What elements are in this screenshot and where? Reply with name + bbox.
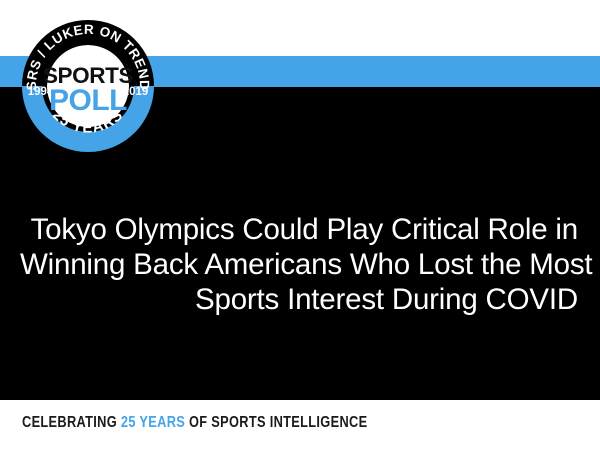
headline-line-1: Tokyo Olympics Could Play Critical Role … [20,212,578,247]
headline-line-2: Winning Back Americans Who Lost the Most [20,247,578,282]
footer-tagline: CELEBRATING 25 YEARS OF SPORTS INTELLIGE… [22,414,367,432]
footer-highlight-25-years: 25 YEARS [121,414,185,431]
slide-canvas: SSRS / LUKER ON TRENDS 25 YEARS 1994 201… [0,0,600,450]
sports-poll-logo: SSRS / LUKER ON TRENDS 25 YEARS 1994 201… [22,20,154,152]
footer-prefix: CELEBRATING [22,414,121,431]
headline-line-3: Sports Interest During COVID [20,282,578,317]
logo-word-poll: POLL [49,84,127,117]
headline: Tokyo Olympics Could Play Critical Role … [20,212,578,317]
footer-suffix: OF SPORTS INTELLIGENCE [185,414,367,431]
